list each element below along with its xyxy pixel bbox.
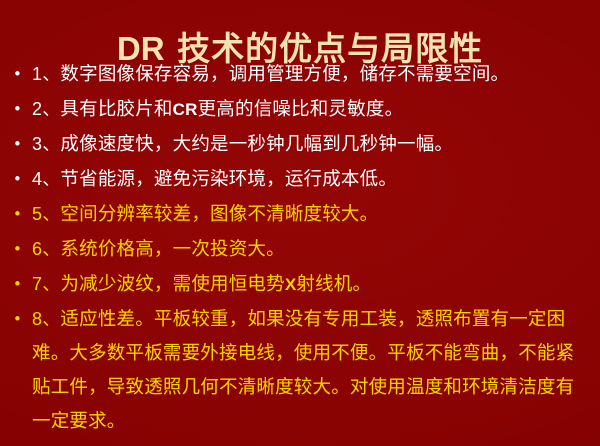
list-item-text-before: 具有比胶片和	[60, 99, 172, 120]
list-item-acronym: X	[285, 275, 297, 294]
list-item-text: 节省能源，避免污染环境，运行成本低。	[60, 169, 397, 190]
bullet-icon: •	[13, 92, 25, 126]
slide-canvas: DR 技术的优点与局限性 • 1、数字图像保存容易，调用管理方便，储存不需要空间…	[0, 0, 600, 446]
list-item: • 7、为减少波纹，需使用恒电势X射线机。	[0, 267, 600, 302]
list-item: • 4、节省能源，避免污染环境，运行成本低。	[0, 162, 600, 197]
list-item-text: 成像速度快，大约是一秒钟几幅到几秒钟一幅。	[60, 134, 453, 155]
list-item-number: 7、	[32, 274, 60, 294]
list-item-text: 数字图像保存容易，调用管理方便，储存不需要空间。	[60, 64, 509, 85]
list-item-number: 1、	[32, 64, 60, 84]
list-item-number: 8、	[32, 309, 60, 329]
bullet-icon: •	[13, 267, 25, 301]
bullet-icon: •	[13, 197, 25, 231]
list-item: • 2、具有比胶片和CR更高的信噪比和灵敏度。	[0, 92, 600, 127]
list-item: • 8、适应性差。平板较重，如果没有专用工装，透照布置有一定困难。大多数平板需要…	[0, 302, 600, 439]
list-item: • 1、数字图像保存容易，调用管理方便，储存不需要空间。	[0, 57, 600, 92]
list-item-number: 6、	[32, 239, 60, 259]
list-item-acronym: CR	[173, 100, 198, 119]
list-item-text-before: 为减少波纹，需使用恒电势	[60, 274, 284, 295]
list-item-text-after: 射线机。	[296, 274, 371, 295]
list-item-number: 4、	[32, 169, 60, 189]
list-item-number: 3、	[32, 134, 60, 154]
bullet-list: • 1、数字图像保存容易，调用管理方便，储存不需要空间。 • 2、具有比胶片和C…	[0, 57, 600, 439]
list-item-text: 空间分辨率较差，图像不清晰度较大。	[60, 204, 378, 225]
list-item: • 5、空间分辨率较差，图像不清晰度较大。	[0, 197, 600, 232]
bullet-icon: •	[13, 57, 25, 91]
list-item-number: 2、	[32, 99, 60, 119]
list-item-text: 系统价格高，一次投资大。	[60, 239, 284, 260]
list-item: • 3、成像速度快，大约是一秒钟几幅到几秒钟一幅。	[0, 127, 600, 162]
bullet-icon: •	[13, 127, 25, 161]
list-item: • 6、系统价格高，一次投资大。	[0, 232, 600, 267]
bullet-icon: •	[13, 302, 25, 336]
bullet-icon: •	[13, 232, 25, 266]
list-item-text: 适应性差。平板较重，如果没有专用工装，透照布置有一定困难。大多数平板需要外接电线…	[32, 309, 574, 432]
list-item-text-after: 更高的信噪比和灵敏度。	[198, 99, 404, 120]
bullet-icon: •	[13, 162, 25, 196]
list-item-number: 5、	[32, 204, 60, 224]
